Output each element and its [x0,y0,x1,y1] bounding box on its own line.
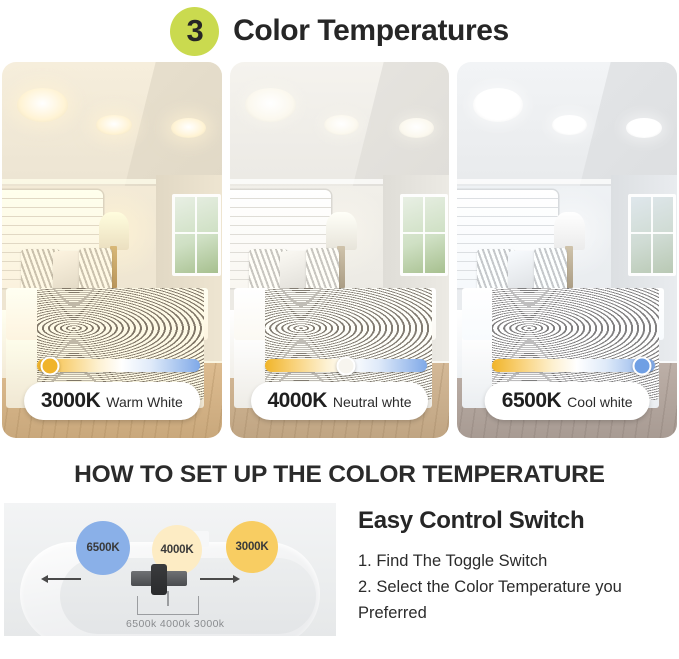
bubble-3000k: 3000K [226,521,278,573]
kelvin-value: 3000K [41,389,100,413]
step-number-badge: 3 [170,7,219,56]
switch-diagram: 6500K 4000K 3000K [4,503,336,636]
ceiling-light-3 [171,118,206,138]
bubble-6500k: 6500K [76,521,130,575]
panel-6500k[interactable]: 6500K Cool white [457,62,677,438]
kelvin-value: 6500K [502,389,561,413]
kelvin-name: Cool white [567,394,632,410]
switch-position-legend: 6500k 4000k 3000k [126,618,224,630]
kelvin-name: Warm White [106,394,182,410]
temperature-slider-4000k[interactable] [265,359,428,372]
how-to-heading: HOW TO SET UP THE COLOR TEMPERATURE [0,461,679,489]
panel-3000k[interactable]: 3000K Warm White [2,62,222,438]
step-number: 3 [187,13,203,49]
window-mullion-vertical [423,197,425,274]
window [628,194,676,277]
arrow-left-icon [47,578,81,580]
window-mullion-horizontal [175,232,217,234]
bottom-section: 6500K 4000K 3000K Easy Control Switch 1.… [0,503,679,636]
slider-knob[interactable] [337,356,356,375]
page-title: Color Temperatures [233,14,509,48]
slider-knob[interactable] [633,356,652,375]
ceiling-light-3 [626,118,661,138]
slider-knob[interactable] [41,356,60,375]
toggle-switch-lever[interactable] [151,564,167,595]
arrow-right-icon [200,578,234,580]
kelvin-value: 4000K [268,389,327,413]
temperature-label-3000k: 3000K Warm White [24,382,200,420]
window [172,194,220,277]
temperature-slider-3000k[interactable] [37,359,200,372]
instruction-step-2: 2. Select the Color Temperature you Pref… [358,574,675,626]
color-temperature-panels: 3000K Warm White [0,62,679,438]
window-mullion-vertical [195,197,197,274]
window [400,194,448,277]
page-header: 3 Color Temperatures [0,0,679,62]
temperature-slider-6500k[interactable] [492,359,655,372]
switch-bracket-tick [167,596,169,606]
temperature-label-4000k: 4000K Neutral whte [251,382,429,420]
panel-4000k[interactable]: 4000K Neutral whte [230,62,450,438]
window-mullion-horizontal [403,232,445,234]
temperature-label-6500k: 6500K Cool white [485,382,650,420]
kelvin-name: Neutral whte [333,394,412,410]
window-mullion-horizontal [631,232,673,234]
instructions-block: Easy Control Switch 1. Find The Toggle S… [336,503,675,636]
slider-track[interactable] [37,359,200,372]
slider-track[interactable] [492,359,655,372]
ceiling-light-3 [399,118,434,138]
instruction-step-1: 1. Find The Toggle Switch [358,548,675,574]
instructions-title: Easy Control Switch [358,507,675,535]
window-mullion-vertical [651,197,653,274]
